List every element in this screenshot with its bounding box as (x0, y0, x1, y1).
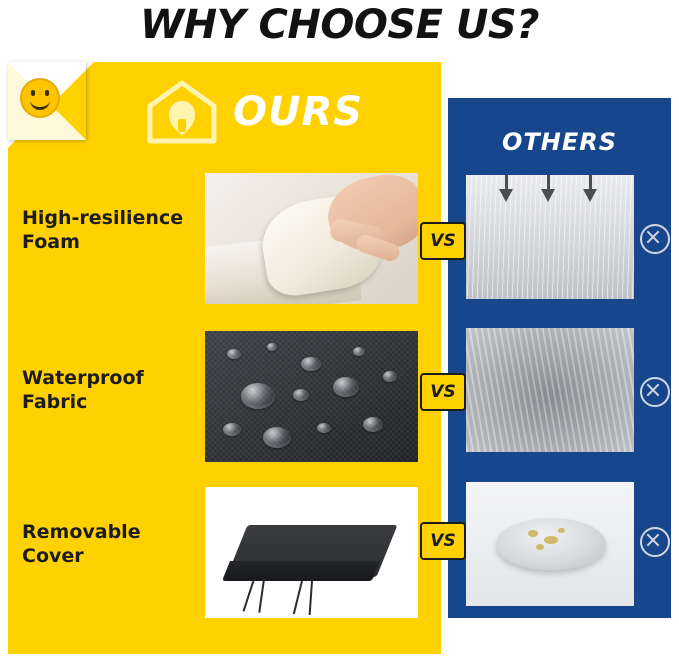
water-droplet (293, 389, 309, 401)
stain (528, 530, 538, 537)
water-droplet (227, 349, 241, 359)
smiley-face-icon (20, 78, 60, 118)
x-circle-icon (640, 224, 670, 254)
stain (544, 536, 558, 544)
vs-badge: VS (420, 222, 466, 260)
ours-image-waterproof-fabric (205, 331, 418, 462)
vs-badge: VS (420, 522, 466, 560)
water-droplet (353, 347, 365, 356)
feature-label-high-resilience-foam: High-resilience Foam (22, 206, 202, 255)
stain (558, 528, 565, 533)
water-droplet (363, 417, 383, 432)
water-droplet (333, 377, 359, 397)
others-image-absorbent-fabric (466, 328, 634, 452)
poster-root: WHY CHOOSE US? OURS OTHERS High-resilien… (0, 0, 679, 662)
feature-label-line2: Fabric (22, 391, 87, 413)
ours-image-foam (205, 173, 418, 304)
smiley-mouth (30, 96, 50, 110)
feature-label-line2: Foam (22, 231, 80, 253)
x-circle-icon (640, 377, 670, 407)
arrow-down-icon (541, 189, 555, 202)
stain (536, 544, 544, 550)
water-droplet (267, 343, 277, 351)
flat-cushion (496, 518, 606, 570)
vs-badge: VS (420, 373, 466, 411)
ours-header: OURS (145, 78, 425, 146)
feature-label-line1: Waterproof (22, 367, 144, 389)
feature-label-waterproof-fabric: Waterproof Fabric (22, 366, 202, 415)
others-image-stained-cushion (466, 482, 634, 606)
feature-label-line1: High-resilience (22, 207, 183, 229)
arrow-down-icon (583, 189, 597, 202)
others-label: OTHERS (448, 128, 671, 156)
feature-label-line2: Cover (22, 545, 84, 567)
arrow-down-icon (499, 189, 513, 202)
fiber-dark-background (466, 328, 634, 452)
ours-image-removable-cover (205, 487, 418, 618)
water-droplet (301, 357, 321, 371)
water-droplet (263, 427, 291, 448)
others-image-thin-fiber (466, 175, 634, 299)
ours-label: OURS (233, 89, 363, 135)
house-badge-icon (145, 79, 219, 145)
x-circle-icon (640, 527, 670, 557)
water-droplet (383, 371, 397, 382)
water-droplet (223, 423, 241, 436)
water-droplet (317, 423, 331, 433)
cushion-side (222, 561, 380, 581)
feature-label-removable-cover: Removable Cover (22, 520, 202, 569)
page-title: WHY CHOOSE US? (0, 2, 679, 48)
feature-label-line1: Removable (22, 521, 141, 543)
water-droplet (241, 383, 275, 409)
